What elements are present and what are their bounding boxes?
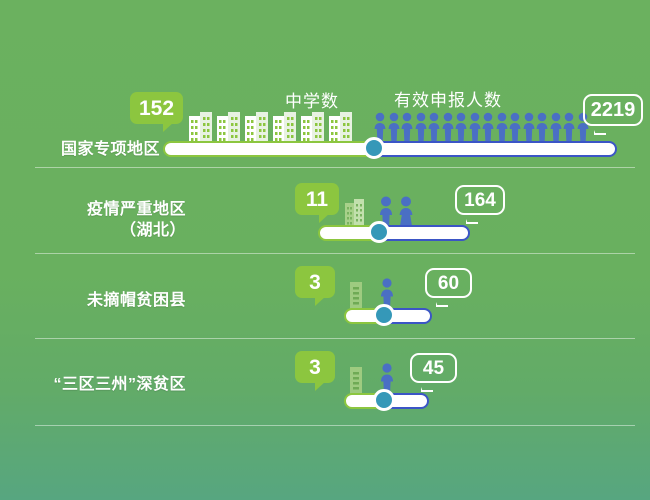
row-label-poverty-county: 未摘帽贫困县 [0,291,186,311]
schools-value-national: 152 [130,92,183,124]
person-icon [509,112,521,143]
person-icon [428,112,440,143]
schools-value-hubei: 11 [295,183,339,215]
person-icon [415,112,427,143]
applicants-value-hubei: 164 [457,187,503,213]
row-divider [35,253,635,254]
building-icon [349,363,363,395]
slider-knob[interactable] [363,137,385,159]
slider-knob[interactable] [373,389,395,411]
row-label-national: 国家专项地区 [0,140,160,160]
schools-bubble-hubei: 11 [295,183,339,215]
person-icon [563,112,575,143]
row-divider [35,338,635,339]
schools-bubble-national: 152 [130,92,183,124]
bubble-tail-icon [594,124,606,135]
bubble-tail-icon [315,296,326,306]
applicant-icons-national [374,112,589,143]
schools-bubble-sanqu-sanzhou: 3 [295,351,335,383]
school-icons-poverty-county [349,278,363,310]
person-icon [455,112,467,143]
person-icon [523,112,535,143]
bubble-tail-icon [163,122,174,132]
person-icon [388,112,400,143]
person-icon [482,112,494,143]
person-icon [401,112,413,143]
person-icon [496,112,508,143]
building-icon [349,278,363,310]
applicants-bubble-poverty-county: 60 [425,268,472,298]
applicants-value-poverty-county: 60 [427,270,470,296]
slider-hubei[interactable] [318,225,470,241]
slider-segment-applicants[interactable] [376,225,470,241]
applicants-value-national: 2219 [585,96,641,124]
person-icon [536,112,548,143]
slider-knob[interactable] [373,304,395,326]
schools-bubble-poverty-county: 3 [295,266,335,298]
slider-national[interactable] [163,141,617,157]
caption-applicants: 有效申报人数 [394,86,502,111]
applicants-bubble-hubei: 164 [455,185,505,215]
bubble-tail-icon [436,296,448,307]
infographic-canvas: 中学数 有效申报人数 国家专项地区 152 [0,0,650,500]
school-icons-sanqu-sanzhou [349,363,363,395]
row-label-hubei-line2: （湖北） [0,221,186,241]
applicants-value-sanqu-sanzhou: 45 [412,355,455,381]
bottom-divider [35,425,635,426]
bubble-tail-icon [421,381,433,392]
slider-poverty-county[interactable] [344,308,432,324]
slider-knob[interactable] [368,221,390,243]
slider-segment-schools[interactable] [163,141,376,157]
row-divider [35,167,635,168]
person-icon [469,112,481,143]
row-label-sanqu-sanzhou: “三区三州”深贫区 [0,375,186,395]
person-icon [550,112,562,143]
slider-sanqu-sanzhou[interactable] [344,393,429,409]
bubble-tail-icon [319,213,330,223]
schools-value-sanqu-sanzhou: 3 [295,351,335,383]
applicants-bubble-sanqu-sanzhou: 45 [410,353,457,383]
bubble-tail-icon [315,381,326,391]
person-icon [442,112,454,143]
applicants-bubble-national: 2219 [583,94,643,126]
schools-value-poverty-county: 3 [295,266,335,298]
bubble-tail-icon [466,213,478,224]
slider-segment-applicants[interactable] [371,141,617,157]
row-label-hubei-line1: 疫情严重地区 [0,200,186,220]
